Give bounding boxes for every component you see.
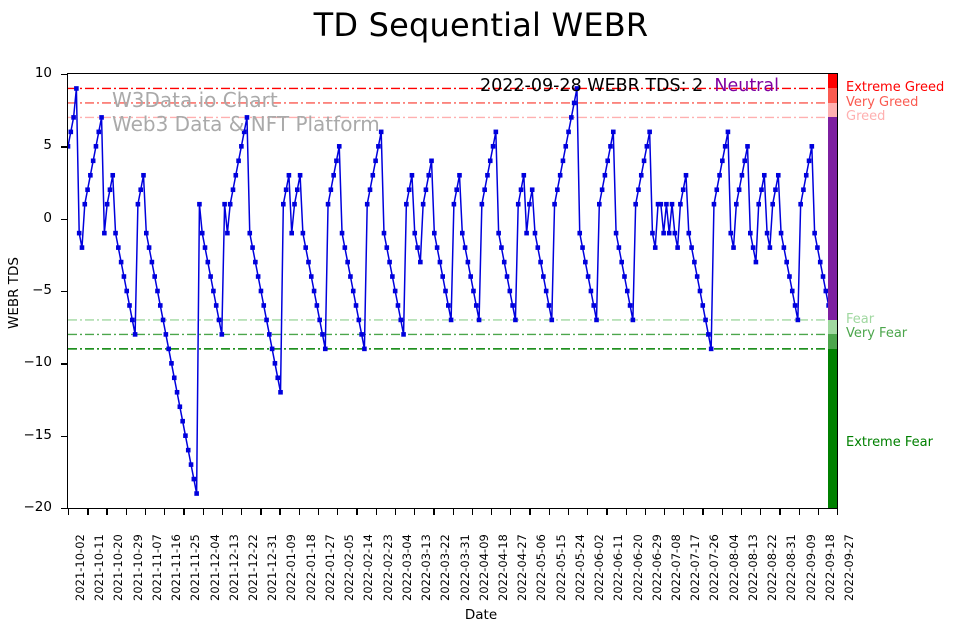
annotation-text: 2022-09-28 WEBR TDS: 2 — [480, 76, 703, 96]
data-point — [292, 202, 297, 207]
data-point — [275, 376, 280, 381]
data-point — [192, 477, 197, 482]
data-point — [645, 144, 650, 149]
data-point — [382, 231, 387, 236]
data-point — [396, 303, 401, 308]
data-point — [214, 303, 219, 308]
data-point — [261, 303, 266, 308]
x-tick-label: 2022-06-02 — [592, 534, 606, 601]
data-point — [155, 289, 160, 294]
x-axis: 2021-10-022021-10-112021-10-202021-10-29… — [0, 509, 962, 609]
data-point — [96, 130, 101, 135]
data-point — [354, 303, 359, 308]
x-tick-mark — [606, 509, 607, 515]
data-point — [762, 173, 767, 178]
data-point — [793, 303, 798, 308]
data-point — [664, 202, 669, 207]
strip-segment — [828, 334, 837, 348]
x-tick-mark — [241, 509, 242, 515]
data-point — [359, 332, 364, 337]
data-point — [166, 347, 171, 352]
data-point — [256, 274, 261, 279]
data-point — [194, 491, 199, 496]
data-point — [541, 274, 546, 279]
x-tick-mark — [318, 509, 319, 515]
data-point — [566, 130, 571, 135]
data-point — [273, 361, 278, 366]
data-point — [362, 347, 367, 352]
data-point — [723, 144, 728, 149]
x-tick-mark — [626, 509, 627, 515]
data-point — [175, 390, 180, 395]
x-tick-label: 2022-04-18 — [496, 534, 510, 601]
data-point — [594, 318, 599, 323]
data-point — [513, 318, 518, 323]
data-point — [432, 231, 437, 236]
strip-segment — [828, 117, 837, 320]
data-point — [401, 332, 406, 337]
data-point — [343, 245, 348, 250]
data-point — [770, 202, 775, 207]
data-point — [577, 231, 582, 236]
x-tick-mark — [568, 509, 569, 515]
data-point — [807, 159, 812, 164]
data-point — [345, 260, 350, 265]
data-point — [700, 303, 705, 308]
x-tick-label: 2021-12-22 — [246, 534, 260, 601]
data-point — [742, 159, 747, 164]
data-point — [519, 187, 524, 192]
data-point — [152, 274, 157, 279]
data-point — [124, 289, 129, 294]
annotation-state: Neutral — [714, 76, 779, 96]
x-tick-label: 2021-10-20 — [111, 534, 125, 601]
data-point — [270, 347, 275, 352]
data-point — [636, 187, 641, 192]
x-tick-label: 2022-05-15 — [554, 534, 568, 601]
data-point — [200, 231, 205, 236]
data-point — [477, 318, 482, 323]
data-point — [161, 318, 166, 323]
data-point — [586, 274, 591, 279]
data-point — [633, 202, 638, 207]
data-point — [99, 115, 104, 120]
data-point — [315, 303, 320, 308]
data-point — [116, 245, 121, 250]
x-tick-mark — [702, 509, 703, 515]
data-point — [474, 303, 479, 308]
x-axis-title: Date — [0, 607, 962, 623]
data-point — [787, 274, 792, 279]
data-point — [631, 318, 636, 323]
data-point — [144, 231, 149, 236]
current-value-annotation: 2022-09-28 WEBR TDS: 2 Neutral — [480, 76, 779, 96]
strip-segment — [828, 88, 837, 102]
data-point — [689, 245, 694, 250]
data-point — [737, 187, 742, 192]
data-point — [728, 231, 733, 236]
x-tick-mark — [126, 509, 127, 515]
data-point — [376, 144, 381, 149]
data-point — [312, 289, 317, 294]
data-point — [661, 231, 666, 236]
data-point — [695, 274, 700, 279]
y-tick-label: 0 — [0, 210, 52, 226]
x-tick-mark — [68, 509, 69, 515]
x-tick-label: 2022-08-22 — [765, 534, 779, 601]
x-tick-mark — [472, 509, 473, 515]
data-point — [278, 390, 283, 395]
data-point — [768, 245, 773, 250]
data-point — [784, 260, 789, 265]
x-tick-mark — [837, 509, 838, 515]
x-tick-label: 2022-04-09 — [477, 534, 491, 601]
x-tick-label: 2022-03-22 — [438, 534, 452, 601]
data-point — [446, 303, 451, 308]
data-point — [686, 231, 691, 236]
data-point — [110, 173, 115, 178]
data-point — [508, 289, 513, 294]
data-point — [309, 274, 314, 279]
data-point — [211, 289, 216, 294]
data-point — [298, 173, 303, 178]
x-tick-label: 2021-12-04 — [208, 534, 222, 601]
data-point — [169, 361, 174, 366]
x-tick-label: 2022-06-20 — [631, 534, 645, 601]
data-point — [759, 187, 764, 192]
data-point — [306, 260, 311, 265]
data-point — [88, 173, 93, 178]
data-point — [522, 173, 527, 178]
y-tick-label: −15 — [0, 427, 52, 443]
data-point — [105, 202, 110, 207]
strip-segment — [828, 74, 837, 88]
data-point — [815, 245, 820, 250]
watermark-line-2: Web3 Data & NFT Platform — [112, 112, 380, 136]
y-tick-label: 5 — [0, 137, 52, 153]
data-point — [141, 173, 146, 178]
data-point — [247, 231, 252, 236]
data-point — [351, 289, 356, 294]
x-tick-mark — [260, 509, 261, 515]
zone-label-very-fear: Very Fear — [846, 326, 907, 341]
x-tick-mark — [279, 509, 280, 515]
data-point — [639, 173, 644, 178]
data-point — [558, 173, 563, 178]
data-point — [485, 173, 490, 178]
data-point — [264, 318, 269, 323]
x-tick-mark — [337, 509, 338, 515]
plot-area — [67, 73, 838, 509]
data-point — [714, 187, 719, 192]
data-point — [611, 130, 616, 135]
data-point — [429, 159, 434, 164]
data-point — [614, 231, 619, 236]
data-point — [303, 245, 308, 250]
x-tick-mark — [529, 509, 530, 515]
x-tick-label: 2022-02-05 — [342, 534, 356, 601]
data-point — [505, 274, 510, 279]
data-point — [773, 187, 778, 192]
x-tick-mark — [299, 509, 300, 515]
data-point — [740, 173, 745, 178]
data-point — [317, 318, 322, 323]
x-tick-mark — [645, 509, 646, 515]
data-point — [818, 260, 823, 265]
data-point — [415, 245, 420, 250]
data-point — [468, 274, 473, 279]
data-point — [608, 144, 613, 149]
x-tick-label: 2022-09-18 — [823, 534, 837, 601]
data-point — [435, 245, 440, 250]
data-point — [798, 202, 803, 207]
x-tick-label: 2022-09-09 — [804, 534, 818, 601]
zone-label-very-greed: Very Greed — [846, 95, 918, 110]
data-point — [331, 173, 336, 178]
data-point — [136, 202, 141, 207]
data-point — [482, 187, 487, 192]
data-point — [745, 144, 750, 149]
data-point — [250, 245, 255, 250]
page-title: TD Sequential WEBR — [0, 6, 962, 44]
data-point — [653, 245, 658, 250]
data-point — [94, 144, 99, 149]
data-point — [650, 231, 655, 236]
data-point — [452, 202, 457, 207]
sentiment-color-strip — [828, 74, 837, 510]
data-point — [717, 173, 722, 178]
x-tick-mark — [356, 509, 357, 515]
data-point — [208, 274, 213, 279]
data-point — [782, 245, 787, 250]
data-point — [164, 332, 169, 337]
data-point — [390, 274, 395, 279]
data-point — [186, 448, 191, 453]
data-point — [488, 159, 493, 164]
x-tick-label: 2022-02-23 — [381, 534, 395, 601]
data-point — [287, 173, 292, 178]
data-point — [113, 231, 118, 236]
zone-label-extreme-greed: Extreme Greed — [846, 80, 944, 95]
data-point — [206, 260, 211, 265]
data-point — [796, 318, 801, 323]
data-point — [281, 202, 286, 207]
data-point — [748, 231, 753, 236]
data-point — [524, 231, 529, 236]
data-point — [496, 231, 501, 236]
data-point — [91, 159, 96, 164]
x-tick-mark — [799, 509, 800, 515]
x-tick-mark — [145, 509, 146, 515]
data-point — [821, 274, 826, 279]
x-tick-label: 2022-03-13 — [419, 534, 433, 601]
x-tick-label: 2021-10-29 — [131, 534, 145, 601]
x-tick-mark — [741, 509, 742, 515]
x-tick-mark — [453, 509, 454, 515]
data-point — [779, 231, 784, 236]
data-point — [466, 260, 471, 265]
data-point — [530, 187, 535, 192]
data-point — [147, 245, 152, 250]
data-point — [189, 462, 194, 467]
x-tick-label: 2022-09-27 — [842, 534, 856, 601]
data-point — [225, 231, 230, 236]
data-point — [71, 115, 76, 120]
data-point — [217, 318, 222, 323]
data-point — [426, 173, 431, 178]
data-point — [549, 318, 554, 323]
data-point — [597, 202, 602, 207]
data-point — [603, 173, 608, 178]
data-point — [357, 318, 362, 323]
data-point — [368, 187, 373, 192]
data-point — [801, 187, 806, 192]
data-point — [284, 187, 289, 192]
zone-label-greed: Greed — [846, 109, 885, 124]
data-point — [373, 159, 378, 164]
data-point — [698, 289, 703, 294]
data-point — [535, 245, 540, 250]
data-point — [233, 173, 238, 178]
data-point — [734, 202, 739, 207]
data-point — [600, 187, 605, 192]
data-point — [138, 187, 143, 192]
data-point — [703, 318, 708, 323]
zone-label-fear: Fear — [846, 312, 874, 327]
x-tick-label: 2022-04-27 — [515, 534, 529, 601]
data-point — [460, 231, 465, 236]
data-point — [706, 332, 711, 337]
data-point — [150, 260, 155, 265]
data-point — [301, 231, 306, 236]
strip-segment — [828, 103, 837, 117]
zone-label-extreme-fear: Extreme Fear — [846, 435, 933, 450]
data-point — [239, 144, 244, 149]
data-point — [547, 303, 552, 308]
data-point — [720, 159, 725, 164]
data-point — [591, 303, 596, 308]
x-tick-label: 2022-01-18 — [304, 534, 318, 601]
x-tick-label: 2022-01-27 — [323, 534, 337, 601]
data-point — [659, 202, 664, 207]
data-point — [69, 130, 74, 135]
data-point — [158, 303, 163, 308]
x-tick-label: 2022-08-04 — [727, 534, 741, 601]
data-point — [491, 144, 496, 149]
data-point — [538, 260, 543, 265]
data-point — [418, 260, 423, 265]
data-point — [471, 289, 476, 294]
x-tick-mark — [106, 509, 107, 515]
data-point — [334, 159, 339, 164]
data-point — [675, 245, 680, 250]
data-point — [404, 202, 409, 207]
x-tick-mark — [203, 509, 204, 515]
data-point — [712, 202, 717, 207]
data-point — [340, 231, 345, 236]
data-point — [625, 289, 630, 294]
x-tick-label: 2022-08-31 — [784, 534, 798, 601]
x-tick-label: 2021-12-13 — [227, 534, 241, 601]
data-point — [77, 231, 82, 236]
data-point — [178, 404, 183, 409]
data-point — [494, 130, 499, 135]
data-point — [480, 202, 485, 207]
data-point — [398, 318, 403, 323]
x-tick-label: 2021-10-11 — [92, 534, 106, 601]
x-tick-mark — [376, 509, 377, 515]
x-tick-mark — [549, 509, 550, 515]
x-tick-label: 2022-07-26 — [707, 534, 721, 601]
data-point — [561, 159, 566, 164]
x-tick-mark — [683, 509, 684, 515]
data-point — [622, 274, 627, 279]
data-point — [295, 187, 300, 192]
data-point — [628, 303, 633, 308]
x-tick-mark — [164, 509, 165, 515]
data-point — [544, 289, 549, 294]
data-point — [365, 202, 370, 207]
x-tick-mark — [414, 509, 415, 515]
data-point — [421, 202, 426, 207]
data-point — [267, 332, 272, 337]
x-tick-mark — [722, 509, 723, 515]
data-point — [438, 260, 443, 265]
x-tick-label: 2021-11-07 — [150, 534, 164, 601]
data-point — [681, 187, 686, 192]
x-tick-mark — [818, 509, 819, 515]
data-point — [516, 202, 521, 207]
data-point — [337, 144, 342, 149]
data-point — [605, 159, 610, 164]
data-point — [393, 289, 398, 294]
data-point — [502, 260, 507, 265]
data-point — [647, 130, 652, 135]
data-point — [776, 173, 781, 178]
x-tick-label: 2022-08-13 — [746, 534, 760, 601]
data-point — [424, 187, 429, 192]
data-point — [499, 245, 504, 250]
data-point — [82, 202, 87, 207]
data-point — [133, 332, 138, 337]
series-svg — [68, 74, 837, 508]
data-point — [756, 202, 761, 207]
data-point — [510, 303, 515, 308]
data-point — [102, 231, 107, 236]
data-point — [222, 202, 227, 207]
data-point — [619, 260, 624, 265]
data-point — [617, 245, 622, 250]
data-point — [572, 101, 577, 106]
data-point — [320, 332, 325, 337]
data-point — [183, 433, 188, 438]
data-point — [329, 187, 334, 192]
data-point — [410, 173, 415, 178]
data-point — [384, 245, 389, 250]
data-point — [68, 144, 70, 149]
x-tick-mark — [222, 509, 223, 515]
data-point — [731, 245, 736, 250]
data-point — [552, 202, 557, 207]
data-point — [589, 289, 594, 294]
x-tick-label: 2022-06-11 — [611, 534, 625, 601]
strip-segment — [828, 349, 837, 508]
data-point — [74, 86, 79, 91]
y-tick-label: −10 — [0, 354, 52, 370]
x-tick-mark — [433, 509, 434, 515]
data-point — [203, 245, 208, 250]
data-point — [80, 245, 85, 250]
